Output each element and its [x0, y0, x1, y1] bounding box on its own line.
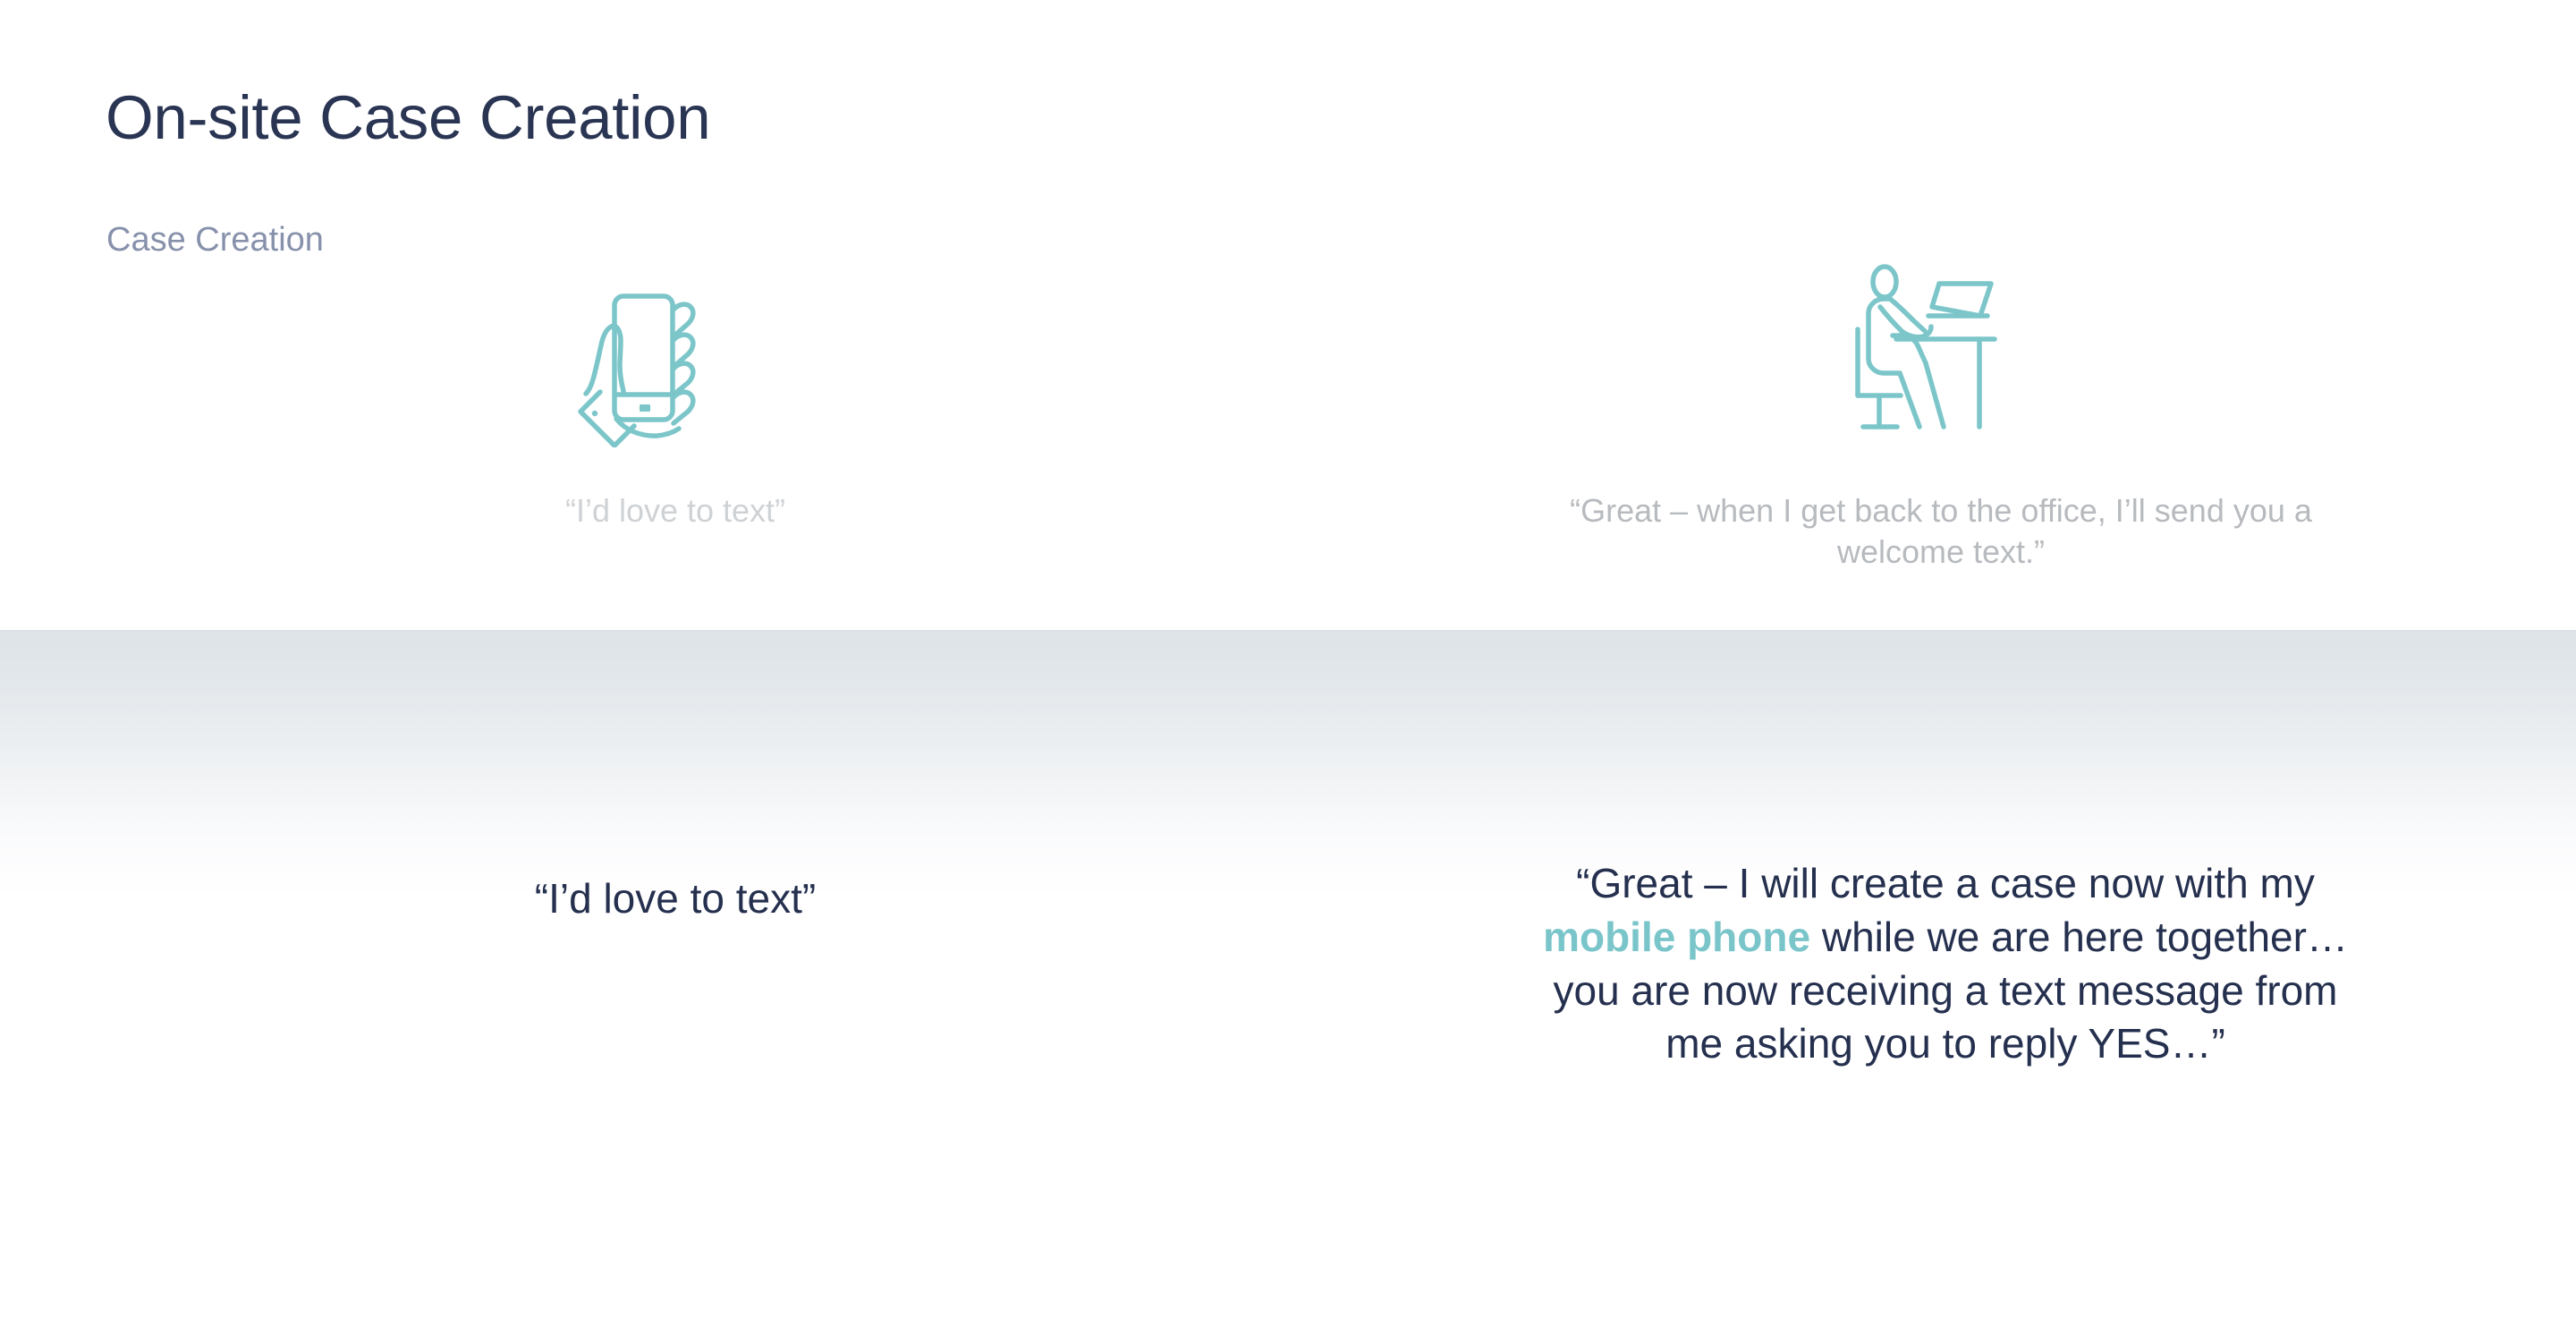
page-title: On-site Case Creation	[106, 86, 710, 150]
slide-canvas: On-site Case Creation Case Creation	[0, 0, 2576, 1335]
statement-right: “Great – I will create a case now with m…	[1521, 857, 2370, 1071]
statement-left-text: “I’d love to text”	[535, 875, 816, 922]
statement-right-before: “Great – I will create a case now with m…	[1576, 860, 2315, 906]
statement-left: “I’d love to text”	[407, 872, 944, 926]
faded-caption-left: “I’d love to text”	[407, 490, 944, 531]
faded-caption-right: “Great – when I get back to the office, …	[1521, 490, 2361, 573]
hand-holding-phone-icon	[572, 277, 742, 447]
page-subtitle: Case Creation	[106, 222, 324, 259]
statement-right-highlight: mobile phone	[1543, 914, 1810, 960]
person-at-desk-with-laptop-icon	[1847, 264, 2039, 434]
